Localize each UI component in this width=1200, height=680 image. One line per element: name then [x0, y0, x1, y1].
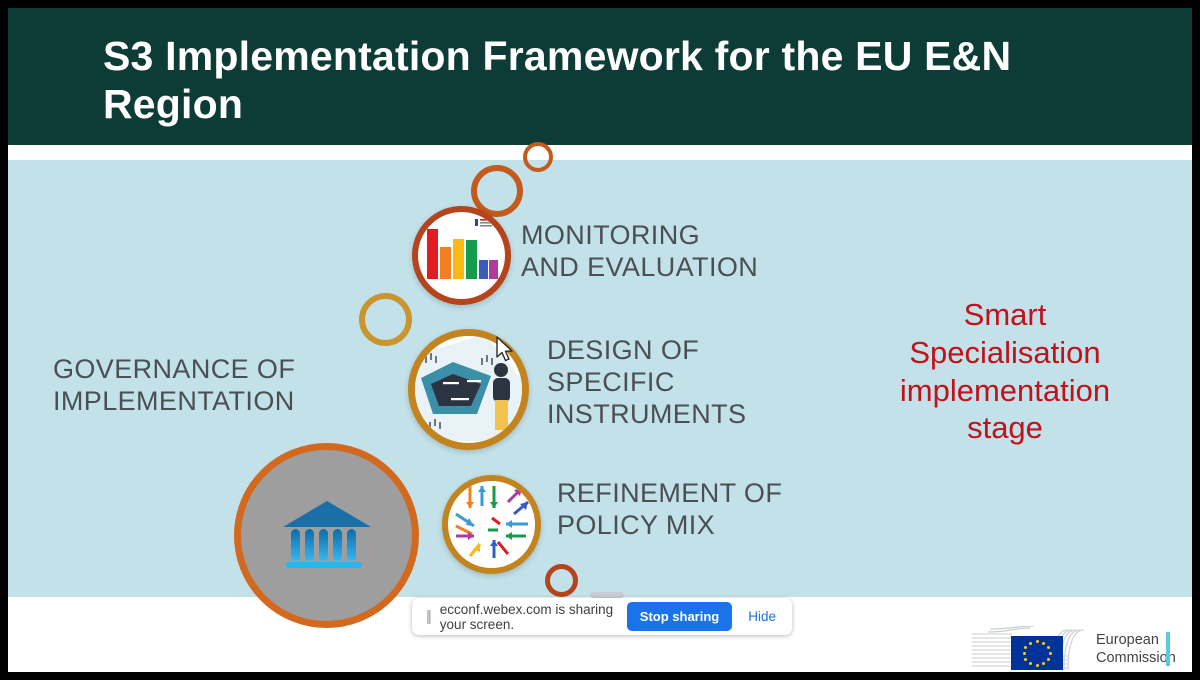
eu-logo-accent-bar — [1166, 632, 1170, 666]
screen-root: S3 Implementation Framework for the EU E… — [0, 0, 1200, 680]
pause-bars-icon: || — [426, 608, 430, 625]
slide-title: S3 Implementation Framework for the EU E… — [103, 33, 1123, 129]
label-design-of-specific-instruments: DESIGN OF SPECIFIC INSTRUMENTS — [547, 335, 847, 431]
label-monitoring-and-evaluation: MONITORING AND EVALUATION — [521, 220, 851, 284]
mouse-pointer-icon — [495, 336, 515, 364]
label-governance-of-implementation: GOVERNANCE OF IMPLEMENTATION — [53, 354, 383, 418]
smart-specialisation-callout: Smart Specialisation implementation stag… — [855, 296, 1155, 447]
multi-arrows-icon — [450, 480, 534, 569]
governance-icon-bubble[interactable] — [234, 443, 419, 628]
decorative-ring-small-top — [523, 142, 553, 172]
bar-chart-icon — [423, 217, 501, 294]
label-refinement-of-policy-mix: REFINEMENT OF POLICY MIX — [557, 478, 887, 542]
institution-building-icon — [281, 493, 373, 578]
share-status-text: ecconf.webex.com is sharing your screen. — [440, 602, 617, 632]
decorative-ring-small-bottom — [545, 564, 578, 597]
refinement-icon-bubble[interactable] — [442, 475, 541, 574]
header-separator — [8, 145, 1192, 160]
hide-share-bar-link[interactable]: Hide — [742, 609, 782, 624]
monitoring-icon-bubble[interactable] — [412, 206, 511, 305]
european-commission-logo: European Commission — [968, 622, 1180, 672]
presentation-slide: S3 Implementation Framework for the EU E… — [8, 8, 1192, 672]
eu-logo-text: European Commission — [1096, 631, 1176, 667]
eu-flag-icon — [1011, 636, 1063, 670]
decorative-ring-gold-mid — [359, 293, 412, 346]
stop-sharing-button[interactable]: Stop sharing — [627, 602, 732, 631]
screen-share-bar: || ecconf.webex.com is sharing your scre… — [412, 598, 792, 635]
